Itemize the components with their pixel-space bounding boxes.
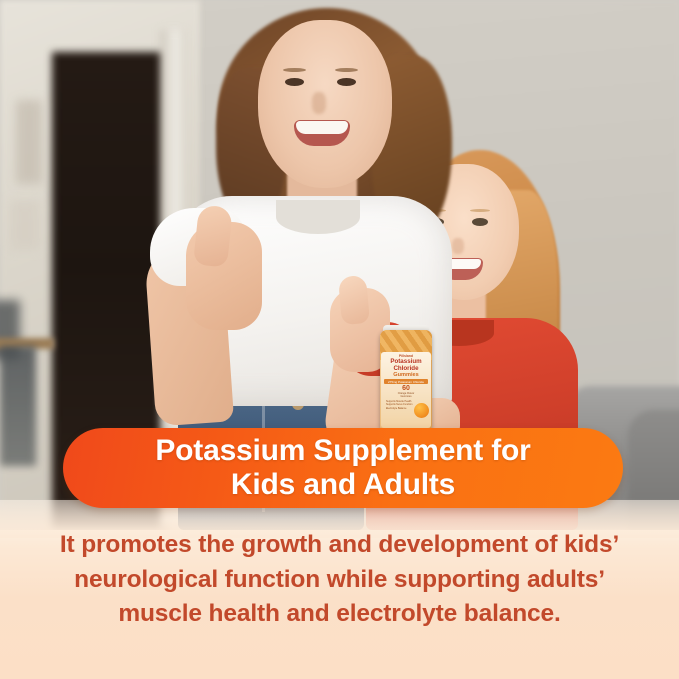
girl-nose <box>452 238 464 254</box>
woman-eyebrow-left <box>283 68 306 72</box>
woman-collar <box>276 200 360 234</box>
background-chair <box>0 346 36 466</box>
headline-line-1: Potassium Supplement for <box>155 434 530 468</box>
headline-banner: Potassium Supplement for Kids and Adults <box>63 428 623 508</box>
label-title-line3: Gummies <box>381 372 431 378</box>
woman-teeth <box>296 121 348 134</box>
woman-eyebrow-right <box>335 68 358 72</box>
label-subtitle: 275mg Potassium Chloride <box>384 379 428 384</box>
label-flavor-line2: Gummies <box>381 395 431 398</box>
girl-eye-right <box>472 218 488 226</box>
background-wall-picture <box>16 100 42 184</box>
woman-eye-right <box>337 78 356 86</box>
girl-eyebrow-right <box>470 209 490 212</box>
woman-thumb <box>193 204 233 267</box>
product-marketing-image: Pillsland Potassium Chloride Gummies 275… <box>0 0 679 679</box>
woman-mouth <box>294 120 350 146</box>
body-copy-line-1: It promotes the growth and development o… <box>0 528 679 563</box>
background-wall-picture-secondary <box>10 200 40 250</box>
headline-line-2: Kids and Adults <box>231 468 455 502</box>
body-copy-line-3: muscle health and electrolyte balance. <box>0 597 679 632</box>
product-bottle: Pillsland Potassium Chloride Gummies 275… <box>380 330 432 434</box>
woman-nose <box>312 92 326 114</box>
orange-fruit-icon <box>414 403 429 418</box>
woman-eye-left <box>285 78 304 86</box>
girl-thumb <box>338 275 370 325</box>
bottle-label: Pillsland Potassium Chloride Gummies 275… <box>381 352 431 428</box>
body-copy: It promotes the growth and development o… <box>0 528 679 632</box>
body-copy-line-2: neurological function while supporting a… <box>0 563 679 598</box>
label-title-line2: Chloride <box>381 366 431 373</box>
